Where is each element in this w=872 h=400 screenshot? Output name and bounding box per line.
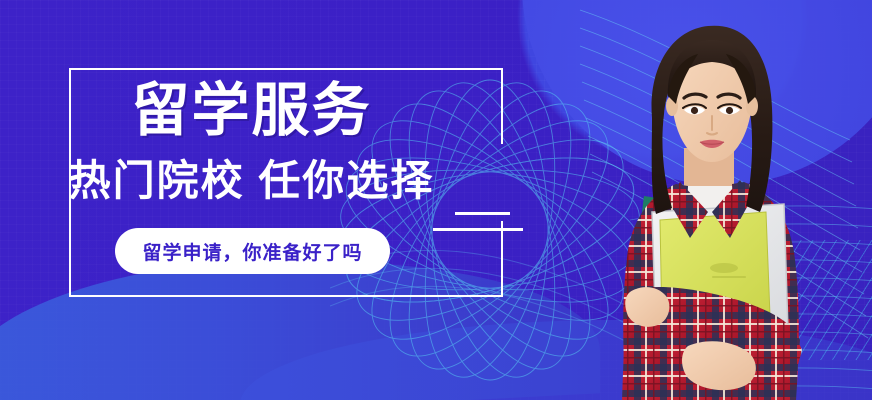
- frame-edge-top: [69, 68, 503, 70]
- frame-tick-mark-lower: [433, 228, 523, 231]
- subheadline: 热门院校 任你选择: [0, 160, 503, 202]
- headline: 留学服务: [0, 82, 503, 140]
- frame-edge-right-lower: [501, 221, 503, 297]
- cta-pill-label: 留学申请，你准备好了吗: [142, 238, 362, 265]
- promo-banner: 留学服务 热门院校 任你选择 留学申请，你准备好了吗: [0, 0, 872, 400]
- cta-pill[interactable]: 留学申请，你准备好了吗: [115, 228, 390, 274]
- frame-edge-bottom: [69, 295, 503, 297]
- diagonal-line-accent: [732, 240, 872, 360]
- frame-tick-mark-upper: [455, 212, 510, 215]
